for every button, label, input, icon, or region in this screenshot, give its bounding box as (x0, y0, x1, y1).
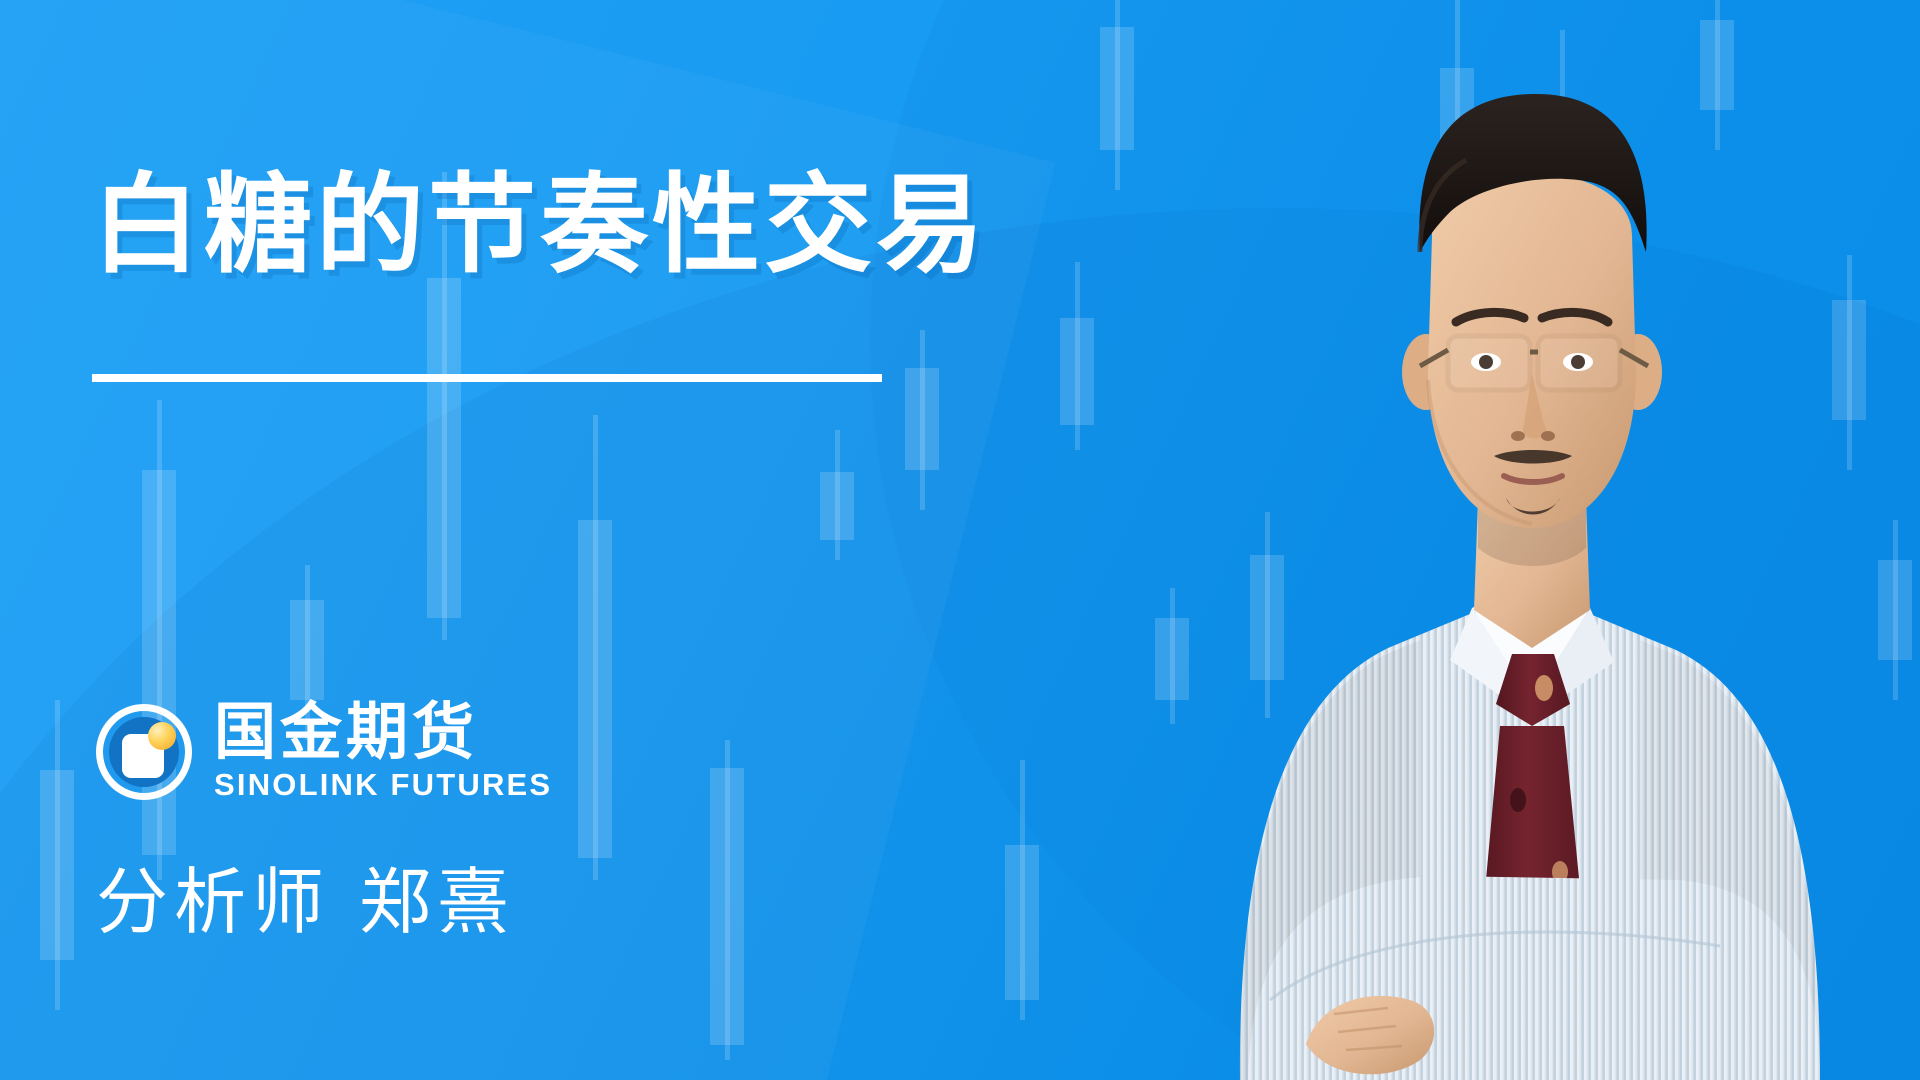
slide-cover: 白糖的节奏性交易 国金期货 SINOLINK FUTURES 分析师 郑熹 (0, 0, 1920, 1080)
slide-title: 白糖的节奏性交易 (92, 166, 1012, 287)
brand-wordmark: 国金期货 SINOLINK FUTURES (214, 700, 552, 803)
presenter-photo (1120, 0, 1880, 1080)
presenter-caption: 分析师 郑熹 (96, 843, 515, 948)
title-underline-rule (92, 374, 882, 382)
brand-name-cn: 国金期货 (214, 700, 552, 763)
logo-gold-sphere-icon (148, 722, 176, 750)
brand-logo: 国金期货 SINOLINK FUTURES (96, 700, 552, 803)
slide-title-block: 白糖的节奏性交易 (92, 166, 1012, 287)
presenter-head (1402, 94, 1662, 528)
sinolink-circle-logo-icon (96, 704, 192, 800)
presenter-arms (1248, 876, 1820, 1080)
brand-name-en: SINOLINK FUTURES (214, 767, 552, 803)
